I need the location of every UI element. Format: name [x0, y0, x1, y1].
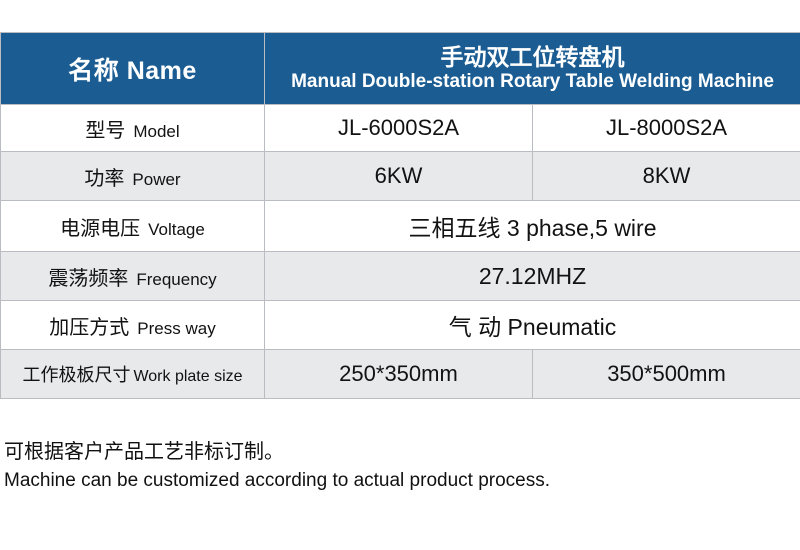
- table-row: 震荡频率Frequency 27.12MHZ: [1, 252, 800, 301]
- row-label-en: Frequency: [128, 270, 216, 289]
- table-row: 加压方式Press way 气 动 Pneumatic: [1, 301, 800, 350]
- table-row: 电源电压Voltage 三相五线 3 phase,5 wire: [1, 201, 800, 252]
- row-label-cn: 工作极板尺寸: [22, 365, 130, 385]
- row-value-right: JL-8000S2A: [533, 105, 800, 152]
- row-label-en: Press way: [129, 319, 215, 338]
- table-header-row: 名称 Name 手动双工位转盘机 Manual Double-station R…: [1, 33, 800, 105]
- row-label-power: 功率Power: [1, 152, 265, 201]
- row-value-left: 6KW: [265, 152, 533, 201]
- row-label-cn: 加压方式: [49, 317, 129, 339]
- row-label-cn: 功率: [84, 168, 124, 190]
- footer-note-en: Machine can be customized according to a…: [4, 467, 796, 496]
- row-label-en: Model: [125, 122, 179, 141]
- row-label-work-plate-size: 工作极板尺寸Work plate size: [1, 350, 265, 399]
- header-name-cn: 名称: [68, 57, 119, 85]
- row-label-voltage: 电源电压Voltage: [1, 201, 265, 252]
- row-value-left: 250*350mm: [265, 350, 533, 399]
- row-label-en: Work plate size: [130, 368, 242, 385]
- table-row: 工作极板尺寸Work plate size 250*350mm 350*500m…: [1, 350, 800, 399]
- row-value-merged: 三相五线 3 phase,5 wire: [265, 201, 800, 252]
- specification-table: 名称 Name 手动双工位转盘机 Manual Double-station R…: [0, 32, 800, 399]
- table-row: 功率Power 6KW 8KW: [1, 152, 800, 201]
- header-name-cell: 名称 Name: [1, 33, 265, 105]
- row-label-model: 型号Model: [1, 105, 265, 152]
- row-value-right: 8KW: [533, 152, 800, 201]
- row-label-en: Power: [124, 170, 180, 189]
- row-label-cn: 震荡频率: [48, 268, 128, 290]
- table-row: 型号Model JL-6000S2A JL-8000S2A: [1, 105, 800, 152]
- header-title-cn: 手动双工位转盘机: [265, 45, 800, 71]
- row-label-en: Voltage: [140, 220, 205, 239]
- row-label-cn: 电源电压: [60, 218, 140, 240]
- header-name-en: Name: [127, 57, 197, 85]
- row-label-cn: 型号: [85, 120, 125, 142]
- header-title-en: Manual Double-station Rotary Table Weldi…: [265, 71, 800, 92]
- row-value-right: 350*500mm: [533, 350, 800, 399]
- footer-note: 可根据客户产品工艺非标订制。 Machine can be customized…: [4, 437, 796, 496]
- row-value-left: JL-6000S2A: [265, 105, 533, 152]
- row-label-press-way: 加压方式Press way: [1, 301, 265, 350]
- row-value-merged: 27.12MHZ: [265, 252, 800, 301]
- header-title-cell: 手动双工位转盘机 Manual Double-station Rotary Ta…: [265, 33, 800, 105]
- row-label-frequency: 震荡频率Frequency: [1, 252, 265, 301]
- row-value-merged: 气 动 Pneumatic: [265, 301, 800, 350]
- footer-note-cn: 可根据客户产品工艺非标订制。: [4, 437, 796, 467]
